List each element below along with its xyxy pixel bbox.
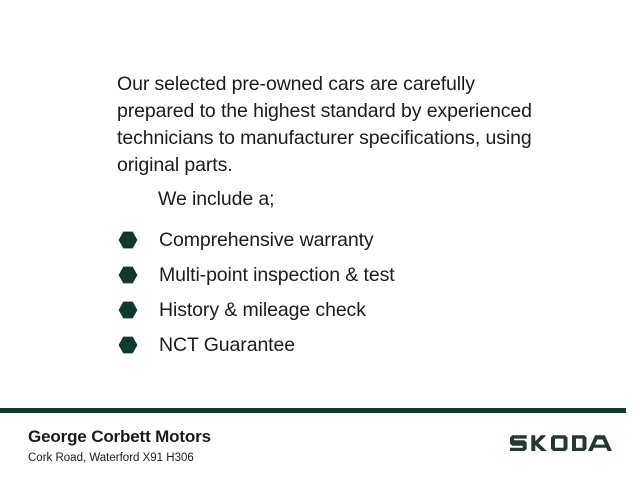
skoda-wordmark-logo — [510, 432, 612, 452]
hexagon-bullet-icon — [118, 301, 138, 319]
dealer-identity-block: George Corbett Motors Cork Road, Waterfo… — [28, 426, 211, 466]
dealer-name: George Corbett Motors — [28, 426, 211, 448]
intro-paragraph: Our selected pre-owned cars are carefull… — [117, 71, 537, 179]
list-item: Multi-point inspection & test — [118, 257, 578, 292]
hexagon-bullet-icon — [118, 266, 138, 284]
include-lead-text: We include a; — [158, 186, 275, 213]
dealer-address: Cork Road, Waterford X91 H306 — [28, 450, 211, 466]
list-item: Comprehensive warranty — [118, 222, 578, 257]
promo-slide: Our selected pre-owned cars are carefull… — [0, 0, 640, 480]
hexagon-bullet-icon — [118, 336, 138, 354]
list-item-label: Multi-point inspection & test — [159, 263, 395, 287]
list-item-label: Comprehensive warranty — [159, 228, 374, 252]
inclusions-list: Comprehensive warranty Multi-point inspe… — [118, 222, 578, 362]
hexagon-bullet-icon — [118, 231, 138, 249]
list-item-label: History & mileage check — [159, 298, 366, 322]
list-item: History & mileage check — [118, 292, 578, 327]
footer: George Corbett Motors Cork Road, Waterfo… — [0, 422, 640, 480]
list-item-label: NCT Guarantee — [159, 333, 295, 357]
list-item: NCT Guarantee — [118, 327, 578, 362]
footer-divider-rule — [0, 408, 626, 413]
